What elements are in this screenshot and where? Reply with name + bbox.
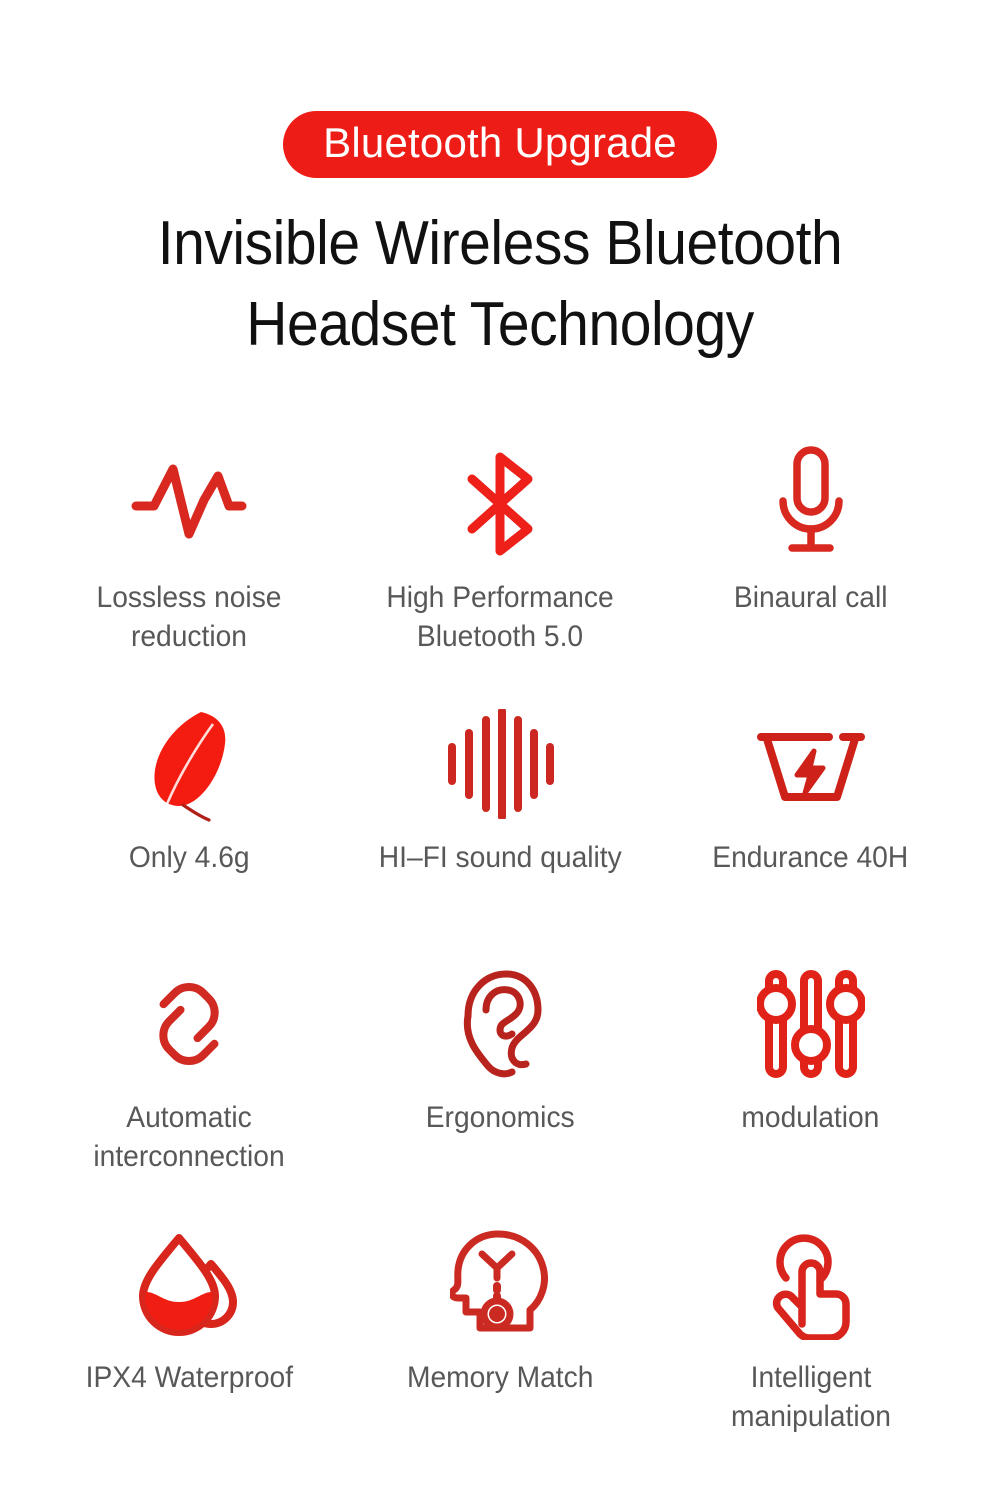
feature-cell: High Performance Bluetooth 5.0	[345, 444, 656, 704]
feature-cell: IPX4 Waterproof	[34, 1224, 345, 1484]
feature-label: High Performance Bluetooth 5.0	[359, 578, 641, 656]
product-feature-page: Bluetooth Upgrade Invisible Wireless Blu…	[0, 0, 1000, 1509]
waveform-icon	[130, 444, 248, 564]
feature-cell: Only 4.6g	[34, 704, 345, 964]
feather-icon	[139, 704, 239, 824]
feature-label: Automatic interconnection	[48, 1098, 330, 1176]
feature-label: Ergonomics	[426, 1098, 575, 1137]
feature-cell: Endurance 40H	[655, 704, 966, 964]
feature-label: Binaural call	[734, 578, 888, 617]
feature-label: Only 4.6g	[129, 838, 250, 877]
feature-label: modulation	[742, 1098, 880, 1137]
feature-cell: HI–FI sound quality	[345, 704, 656, 964]
feature-cell: Intelligent manipulation	[655, 1224, 966, 1484]
equalizer-icon	[444, 704, 556, 824]
ear-icon	[454, 964, 546, 1084]
bluetooth-upgrade-badge: Bluetooth Upgrade	[283, 111, 717, 178]
chain-link-icon	[135, 964, 243, 1084]
feature-label: Endurance 40H	[713, 838, 909, 877]
badge-container: Bluetooth Upgrade	[0, 0, 1000, 178]
tap-hand-icon	[762, 1224, 860, 1344]
feature-label: HI–FI sound quality	[379, 838, 622, 877]
battery-charge-icon	[755, 704, 867, 824]
page-title: Invisible Wireless Bluetooth Headset Tec…	[40, 204, 960, 365]
feature-label: Lossless noise reduction	[48, 578, 330, 656]
feature-grid: Lossless noise reduction High Performanc…	[0, 444, 1000, 1484]
sliders-icon	[757, 964, 865, 1084]
feature-cell: Automatic interconnection	[34, 964, 345, 1224]
feature-label: IPX4 Waterproof	[86, 1358, 293, 1397]
feature-label: Memory Match	[407, 1358, 593, 1397]
microphone-icon	[766, 444, 856, 564]
water-drop-icon	[133, 1224, 245, 1344]
feature-cell: Binaural call	[655, 444, 966, 704]
feature-cell: modulation	[655, 964, 966, 1224]
feature-cell: Ergonomics	[345, 964, 656, 1224]
bluetooth-icon	[452, 444, 548, 564]
feature-cell: Lossless noise reduction	[34, 444, 345, 704]
feature-label: Intelligent manipulation	[670, 1358, 952, 1436]
feature-cell: Memory Match	[345, 1224, 656, 1484]
head-memory-icon	[450, 1224, 550, 1344]
